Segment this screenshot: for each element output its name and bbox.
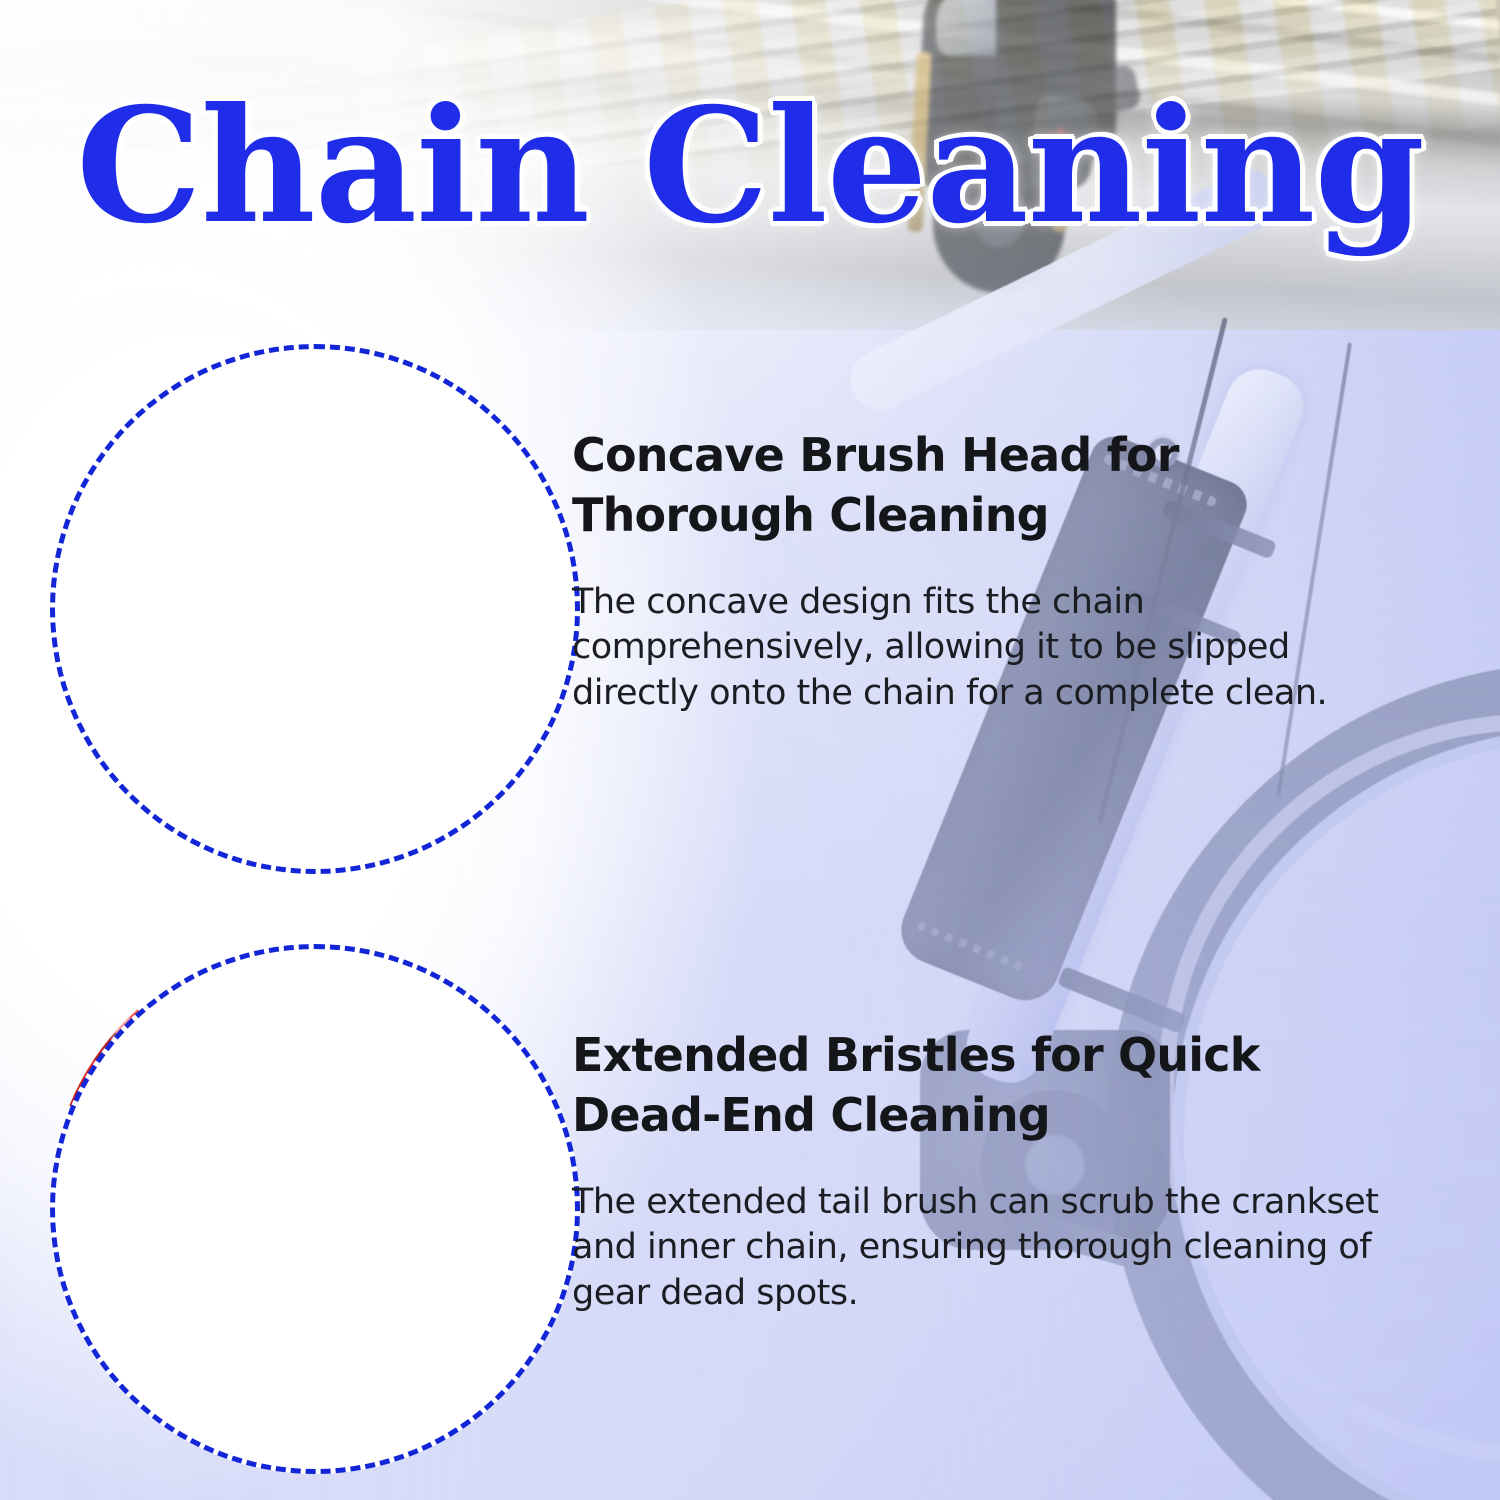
feature-1-heading: Concave Brush Head forThorough Cleaning (572, 426, 1272, 546)
feature-1-body: The concave design fits the chain compre… (572, 580, 1402, 717)
feature-1-heading-line-1: Concave Brush Head for (572, 428, 1179, 482)
feature-1-heading-line-2: Thorough Cleaning (572, 486, 1049, 546)
feature-2-heading: Extended Bristles for QuickDead-End Clea… (572, 1026, 1272, 1146)
feature-block-1: Concave Brush Head forThorough Cleaning … (0, 330, 1480, 890)
dashed-circle-frame-1 (50, 344, 580, 874)
dashed-circle-frame-2 (50, 944, 580, 1474)
feature-2-body: The extended tail brush can scrub the cr… (572, 1180, 1402, 1317)
feature-2-heading-line-1: Extended Bristles for Quick (572, 1028, 1260, 1082)
feature-2-heading-line-2: Dead-End Cleaning (572, 1086, 1050, 1146)
feature-2-text: Extended Bristles for QuickDead-End Clea… (572, 1026, 1452, 1316)
feature-block-2: Extended Bristles for QuickDead-End Clea… (0, 930, 1480, 1490)
page-title: Chain Cleaning (0, 86, 1500, 247)
feature-1-text: Concave Brush Head forThorough Cleaning … (572, 426, 1452, 716)
infographic-canvas: Chain Cleaning (0, 0, 1500, 1500)
